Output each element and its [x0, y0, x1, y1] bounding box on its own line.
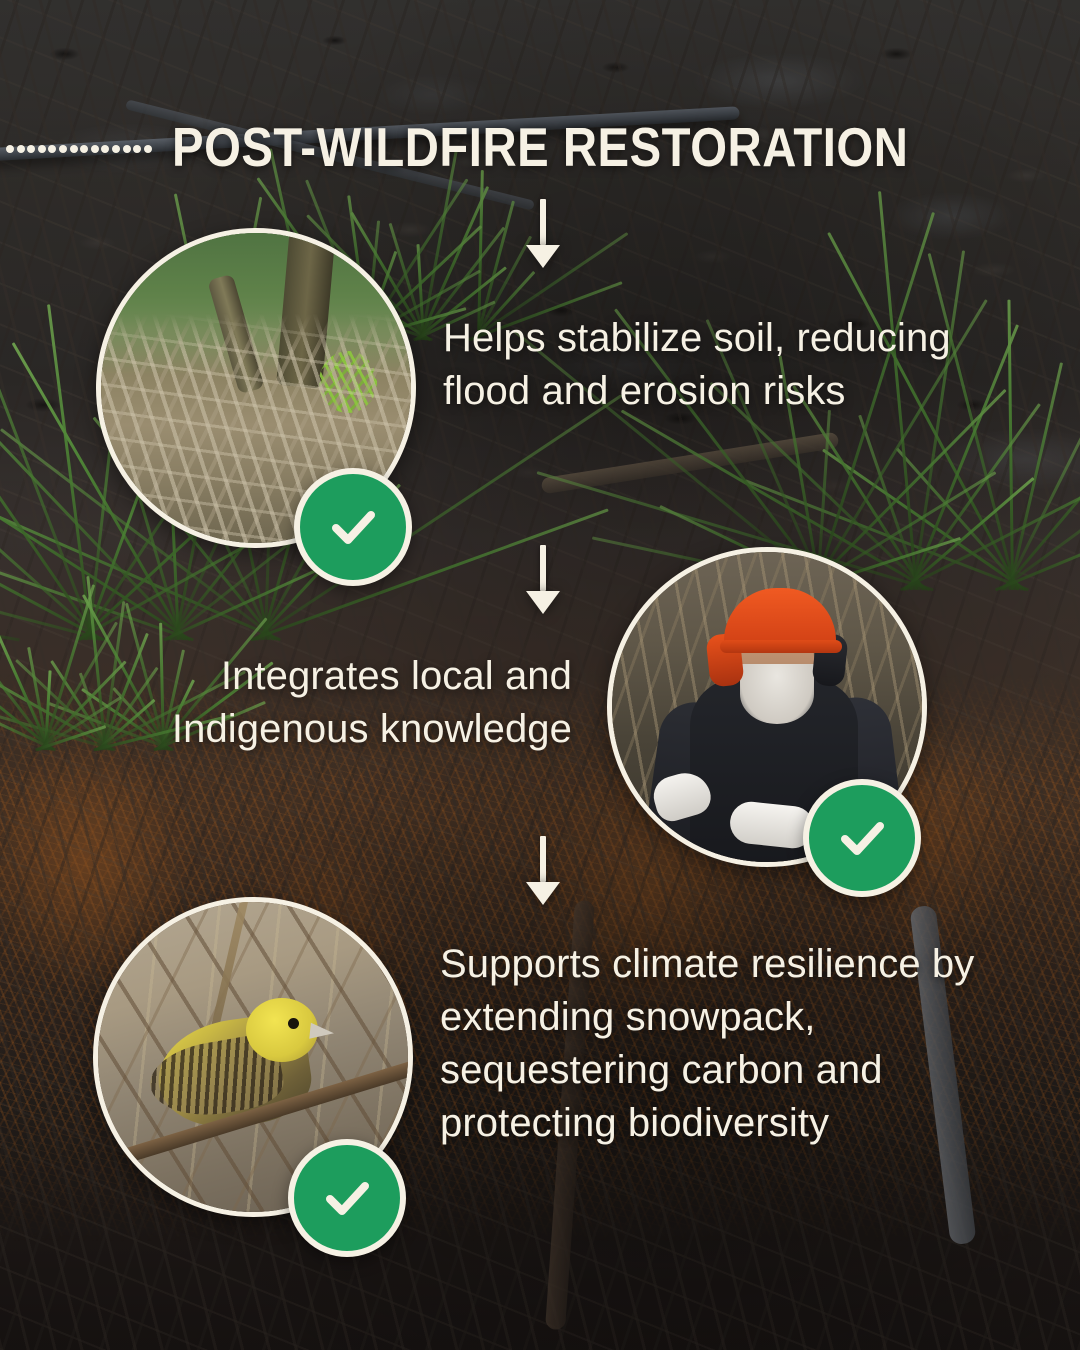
- leader-dot: [144, 145, 152, 153]
- check-badge-1: [294, 468, 412, 586]
- leader-dot: [123, 145, 131, 153]
- dotted-leader-icon: [6, 143, 152, 154]
- leader-dot: [38, 145, 46, 153]
- bird-beak: [309, 1023, 335, 1041]
- check-badge-3: [288, 1139, 406, 1257]
- check-icon: [318, 1169, 376, 1227]
- arrow-head: [526, 882, 560, 905]
- step-3-text: Supports climate resilience by extending…: [440, 938, 992, 1150]
- check-icon: [324, 498, 382, 556]
- leader-dot: [59, 145, 67, 153]
- leader-dot: [101, 145, 109, 153]
- arrow-shaft: [540, 836, 546, 882]
- leader-dot: [112, 145, 120, 153]
- page-title: POST-WILDFIRE RESTORATION: [172, 116, 908, 178]
- arrow-down-icon: [526, 545, 560, 614]
- check-icon: [833, 809, 891, 867]
- arrow-shaft: [540, 545, 546, 591]
- leader-dot: [70, 145, 78, 153]
- arrow-down-icon: [526, 836, 560, 905]
- worker-beard: [740, 664, 814, 724]
- arrow-shaft: [540, 199, 546, 245]
- hard-hat-brim: [720, 640, 842, 653]
- leader-dot: [6, 145, 14, 153]
- arrow-head: [526, 245, 560, 268]
- bird-head: [246, 998, 318, 1062]
- infographic-canvas: POST-WILDFIRE RESTORATION Helps stabiliz…: [0, 0, 1080, 1350]
- leader-dot: [91, 145, 99, 153]
- step-1-text: Helps stabilize soil, reducing flood and…: [443, 312, 988, 418]
- leader-dot: [27, 145, 35, 153]
- arrow-head: [526, 591, 560, 614]
- leader-dot: [48, 145, 56, 153]
- leader-dot: [17, 145, 25, 153]
- step-2-text: Integrates local and Indigenous knowledg…: [60, 650, 572, 756]
- arrow-down-icon: [526, 199, 560, 268]
- leader-dot: [80, 145, 88, 153]
- bird-eye: [288, 1018, 299, 1029]
- check-badge-2: [803, 779, 921, 897]
- leader-dot: [133, 145, 141, 153]
